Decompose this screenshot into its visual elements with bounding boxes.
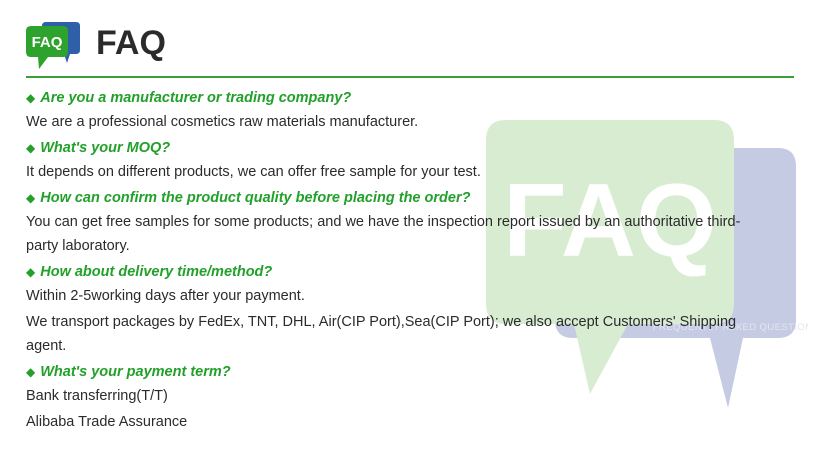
faq-list: ◆ Are you a manufacturer or trading comp… — [26, 86, 794, 436]
faq-answer: We transport packages by FedEx, TNT, DHL… — [26, 310, 766, 360]
faq-answer: You can get free samples for some produc… — [26, 210, 766, 260]
faq-question: ◆ How can confirm the product quality be… — [26, 186, 794, 210]
page-title: FAQ — [96, 26, 166, 64]
faq-question: ◆ What's your payment term? — [26, 360, 794, 384]
faq-question-text: What's your payment term? — [40, 363, 230, 382]
faq-question: ◆ How about delivery time/method? — [26, 260, 794, 284]
faq-question-text: Are you a manufacturer or trading compan… — [40, 89, 351, 108]
page-header: FAQ FAQ — [26, 18, 166, 72]
faq-answer: We are a professional cosmetics raw mate… — [26, 110, 766, 136]
faq-page: FAQ FREQUENTLY ASKED QUESTIONS FAQ FAQ — [0, 0, 820, 460]
faq-logo: FAQ — [26, 18, 82, 72]
faq-answer: It depends on different products, we can… — [26, 160, 766, 186]
diamond-bullet-icon: ◆ — [26, 139, 35, 158]
faq-question-text: How about delivery time/method? — [40, 263, 272, 282]
faq-answer: Within 2-5working days after your paymen… — [26, 284, 766, 310]
diamond-bullet-icon: ◆ — [26, 363, 35, 382]
header-divider — [26, 76, 794, 78]
diamond-bullet-icon: ◆ — [26, 263, 35, 282]
faq-answer: Bank transferring(T/T) — [26, 384, 766, 410]
faq-question-text: What's your MOQ? — [40, 139, 170, 158]
faq-answer: Alibaba Trade Assurance — [26, 410, 766, 436]
faq-question: ◆ Are you a manufacturer or trading comp… — [26, 86, 794, 110]
diamond-bullet-icon: ◆ — [26, 89, 35, 108]
faq-question: ◆ What's your MOQ? — [26, 136, 794, 160]
diamond-bullet-icon: ◆ — [26, 189, 35, 208]
faq-logo-text: FAQ — [32, 34, 63, 51]
faq-question-text: How can confirm the product quality befo… — [40, 189, 470, 208]
